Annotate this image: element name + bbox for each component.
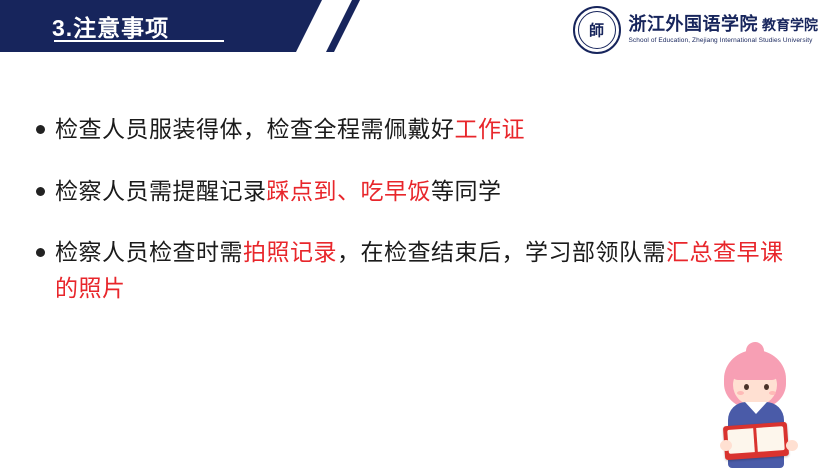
bullet-dot-icon [36,187,45,196]
bullet-segment: 检察人员需提醒记录 [55,178,267,204]
bullet-segment-highlight: 拍照记录 [243,239,337,265]
logo-text-block: 浙江外国语学院教育学院 School of Education, Zhejian… [629,16,819,45]
seal-glyph: 師 [575,20,619,41]
logo-name-en: School of Education, Zhejiang Internatio… [629,38,819,45]
bullet-segment: 检查人员服装得体，检查全程需佩戴好 [55,116,455,142]
university-logo: 師 浙江外国语学院教育学院 School of Education, Zheji… [573,5,819,55]
logo-name-cn-sub: 教育学院 [762,18,818,34]
bullet-text: 检察人员需提醒记录踩点到、吃早饭等同学 [55,174,502,210]
list-item: 检察人员检查时需拍照记录，在检查结束后，学习部领队需汇总查早课的照片 [0,235,832,306]
title-underline [54,40,224,42]
bullet-segment-highlight: 踩点到、吃早饭 [267,178,432,204]
bullet-dot-icon [36,248,45,257]
bullet-dot-icon [36,125,45,134]
bullet-text: 检察人员检查时需拍照记录，在检查结束后，学习部领队需汇总查早课的照片 [55,235,795,306]
bullet-segment-highlight: 工作证 [455,116,526,142]
slide-header: 3.注意事项 師 浙江外国语学院教育学院 School of Education… [0,0,832,52]
header-accent-slash [326,0,360,52]
bullet-segment: ，在检查结束后，学习部领队需 [337,239,666,265]
logo-name-cn: 浙江外国语学院教育学院 [629,16,819,35]
university-seal-icon: 師 [573,6,621,54]
list-item: 检查人员服装得体，检查全程需佩戴好工作证 [0,112,832,148]
bullet-segment: 等同学 [431,178,502,204]
mascot-cheek-left [737,391,744,395]
list-item: 检察人员需提醒记录踩点到、吃早饭等同学 [0,174,832,210]
logo-name-cn-main: 浙江外国语学院 [629,14,759,35]
mascot-cheek-right [769,391,776,395]
mascot-eye-right [764,384,769,390]
mascot-hand-left [720,440,732,451]
student-reading-illustration [700,348,820,468]
page-title: 3.注意事项 [52,9,169,43]
slide-canvas: 3.注意事项 師 浙江外国语学院教育学院 School of Education… [0,0,832,468]
mascot-hand-right [786,440,798,451]
bullet-segment: 检察人员检查时需 [55,239,243,265]
mascot-eye-left [744,384,749,390]
bullet-text: 检查人员服装得体，检查全程需佩戴好工作证 [55,112,525,148]
mascot-bangs [731,360,779,380]
bullet-list: 检查人员服装得体，检查全程需佩戴好工作证 检察人员需提醒记录踩点到、吃早饭等同学… [0,112,832,333]
